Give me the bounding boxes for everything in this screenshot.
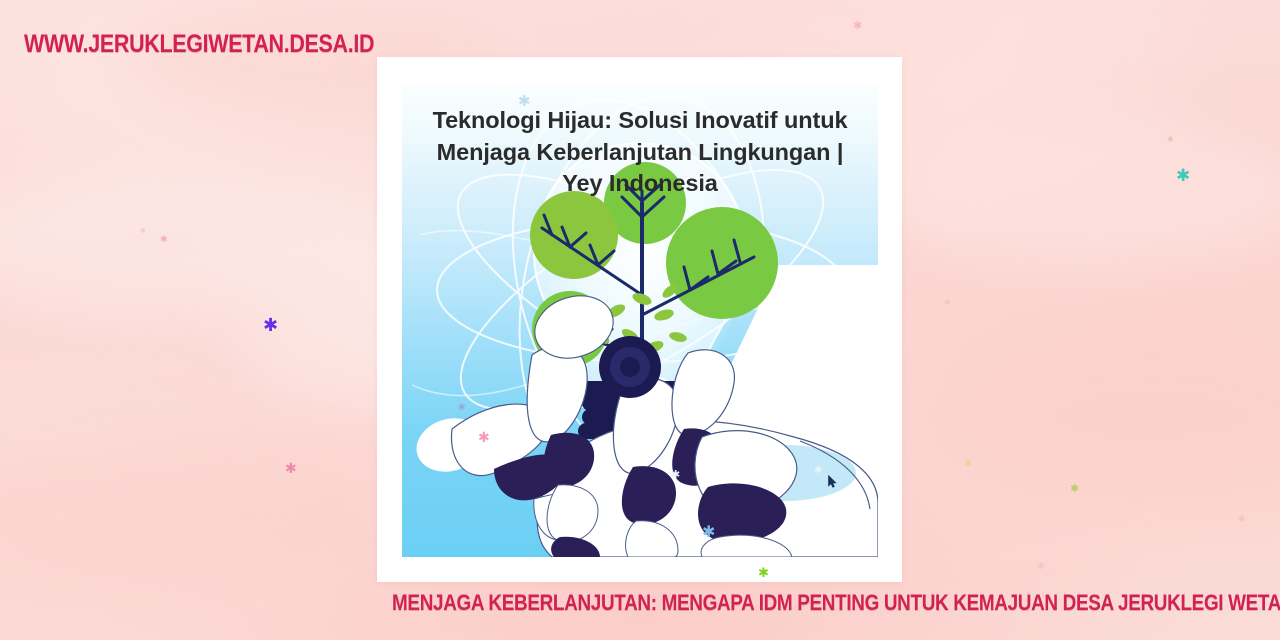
star-canvas-2: ✱ <box>702 524 715 540</box>
star-canvas-5: ✱ <box>458 404 466 413</box>
knuckle-joint <box>599 336 661 398</box>
star-canvas-1: ✱ <box>518 94 531 109</box>
star-canvas-7: ✱ <box>814 466 822 476</box>
star-backdrop-7: ✱ <box>964 460 972 470</box>
artwork-title: Teknologi Hijau: Solusi Inovatif untuk M… <box>402 105 878 200</box>
artwork-title-line-1: Teknologi Hijau: Solusi Inovatif untuk <box>402 105 878 137</box>
star-canvas-4: ✱ <box>478 431 490 445</box>
star-backdrop-11: ✱ <box>944 299 951 307</box>
star-backdrop-9: ✱ <box>1238 516 1246 525</box>
star-backdrop-1: ✱ <box>853 20 862 31</box>
article-caption: MENJAGA KEBERLANJUTAN: MENGAPA IDM PENTI… <box>392 590 1280 616</box>
star-backdrop-2: ✱ <box>1176 168 1190 185</box>
artwork-title-line-2: Menjaga Keberlanjutan Lingkungan | <box>402 137 878 169</box>
artwork-title-line-3: Yey Indonesia <box>402 168 878 200</box>
mouse-cursor-icon <box>828 475 837 488</box>
star-backdrop-10: ✱ <box>1037 563 1045 572</box>
article-thumbnail-card[interactable]: Teknologi Hijau: Solusi Inovatif untuk M… <box>377 57 902 582</box>
star-backdrop-5: ✱ <box>285 462 297 476</box>
artwork-canvas: Teknologi Hijau: Solusi Inovatif untuk M… <box>402 85 878 557</box>
star-canvas-6: ✱ <box>671 469 680 480</box>
star-backdrop-6: ✱ <box>1167 136 1174 144</box>
star-backdrop-3: ✱ <box>263 317 278 335</box>
star-canvas-3: ✱ <box>758 567 769 580</box>
site-watermark: WWW.JERUKLEGIWETAN.DESA.ID <box>24 30 374 59</box>
star-backdrop-4: ✱ <box>160 236 168 245</box>
star-backdrop-8: ✱ <box>1070 483 1079 494</box>
star-backdrop-12: ✱ <box>140 228 146 235</box>
